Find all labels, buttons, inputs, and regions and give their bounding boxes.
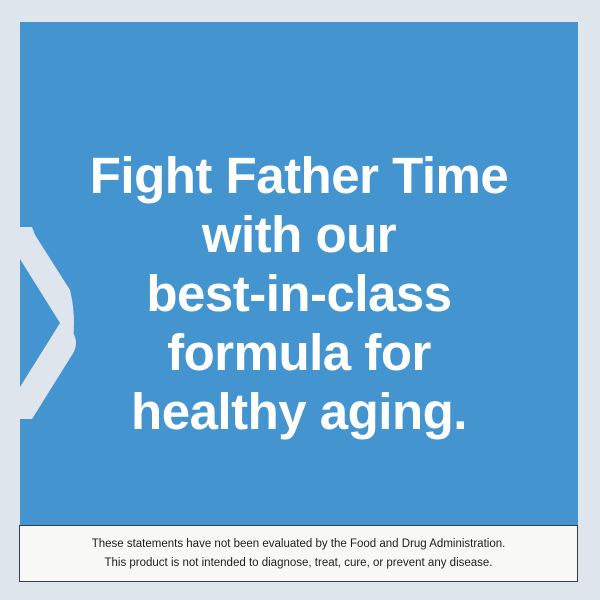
headline-line-4: formula for — [60, 323, 538, 382]
headline-line-5: healthy aging. — [60, 382, 538, 441]
headline-line-2: with our — [60, 205, 538, 264]
disclaimer-line-2: This product is not intended to diagnose… — [104, 554, 492, 573]
headline: Fight Father Time with our best-in-class… — [20, 146, 578, 441]
promo-card: Fight Father Time with our best-in-class… — [0, 0, 600, 600]
headline-line-1: Fight Father Time — [60, 146, 538, 205]
headline-line-3: best-in-class — [60, 264, 538, 323]
disclaimer-box: These statements have not been evaluated… — [19, 525, 578, 582]
disclaimer-line-1: These statements have not been evaluated… — [92, 535, 506, 554]
hero-panel: Fight Father Time with our best-in-class… — [20, 22, 578, 525]
